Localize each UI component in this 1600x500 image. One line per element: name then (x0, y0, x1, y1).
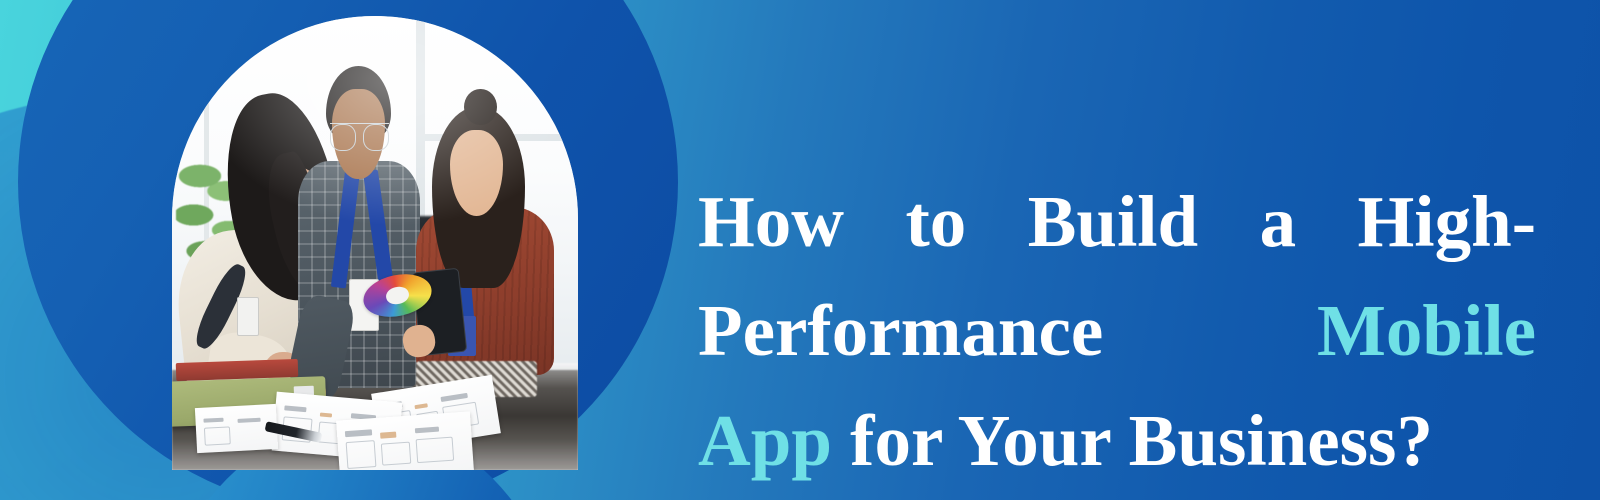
headline-line-2-plain: Performance (698, 290, 1103, 371)
photo-person-center-glasses (330, 123, 389, 149)
photo-wireframe-paper (337, 411, 475, 470)
headline-line-2: Performance Mobile (698, 276, 1536, 386)
headline-line-3-plain: for Your Business? (850, 400, 1433, 481)
blog-header-banner: How to Build a High- Performance Mobile … (0, 0, 1600, 500)
headline-line-3: App for Your Business? (698, 386, 1536, 496)
page-title: How to Build a High- Performance Mobile … (698, 167, 1536, 496)
headline-line-1: How to Build a High- (698, 167, 1536, 277)
headline-accent-app: App (698, 400, 832, 481)
headline-accent-mobile: Mobile (1317, 290, 1536, 371)
team-photo (172, 16, 578, 470)
photo-person-left-badge (237, 297, 259, 335)
team-photo-scene (172, 16, 578, 470)
photo-person-right-hair-bun (464, 89, 496, 125)
